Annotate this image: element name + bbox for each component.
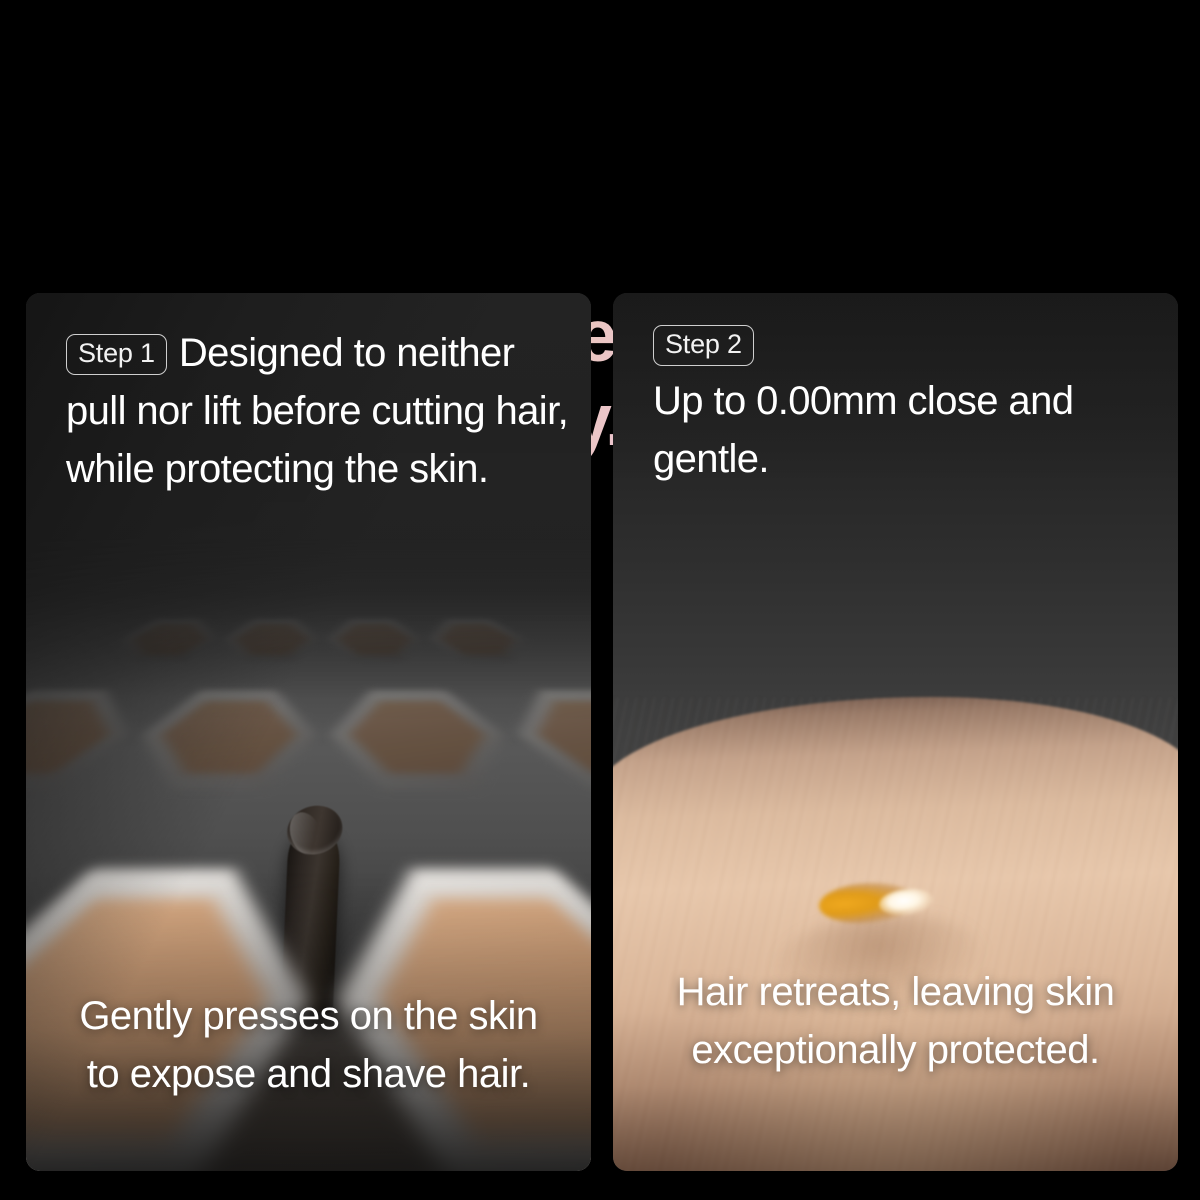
- step-2-badge-row: Step 2: [653, 324, 1156, 366]
- step-1-lead: Step 1Designed to neither pull nor lift …: [66, 324, 569, 498]
- steps-card-row: Step 1Designed to neither pull nor lift …: [26, 293, 1178, 1171]
- step-2-lead-text: Up to 0.00mm close and gentle.: [653, 372, 1156, 488]
- step-1-badge: Step 1: [66, 334, 167, 375]
- step-1-header: Step 1Designed to neither pull nor lift …: [66, 324, 569, 498]
- step-card-1: Step 1Designed to neither pull nor lift …: [26, 293, 591, 1171]
- step-card-2: Step 2 Up to 0.00mm close and gentle. Ha…: [613, 293, 1178, 1171]
- step-2-caption: Hair retreats, leaving skin exceptionall…: [647, 963, 1144, 1079]
- step-2-badge: Step 2: [653, 325, 754, 366]
- step-1-caption: Gently presses on the skin to expose and…: [60, 987, 557, 1103]
- promo-page: Protect & ShaveFoil Technology.: [0, 0, 1200, 1200]
- step-2-header: Step 2 Up to 0.00mm close and gentle.: [653, 324, 1156, 488]
